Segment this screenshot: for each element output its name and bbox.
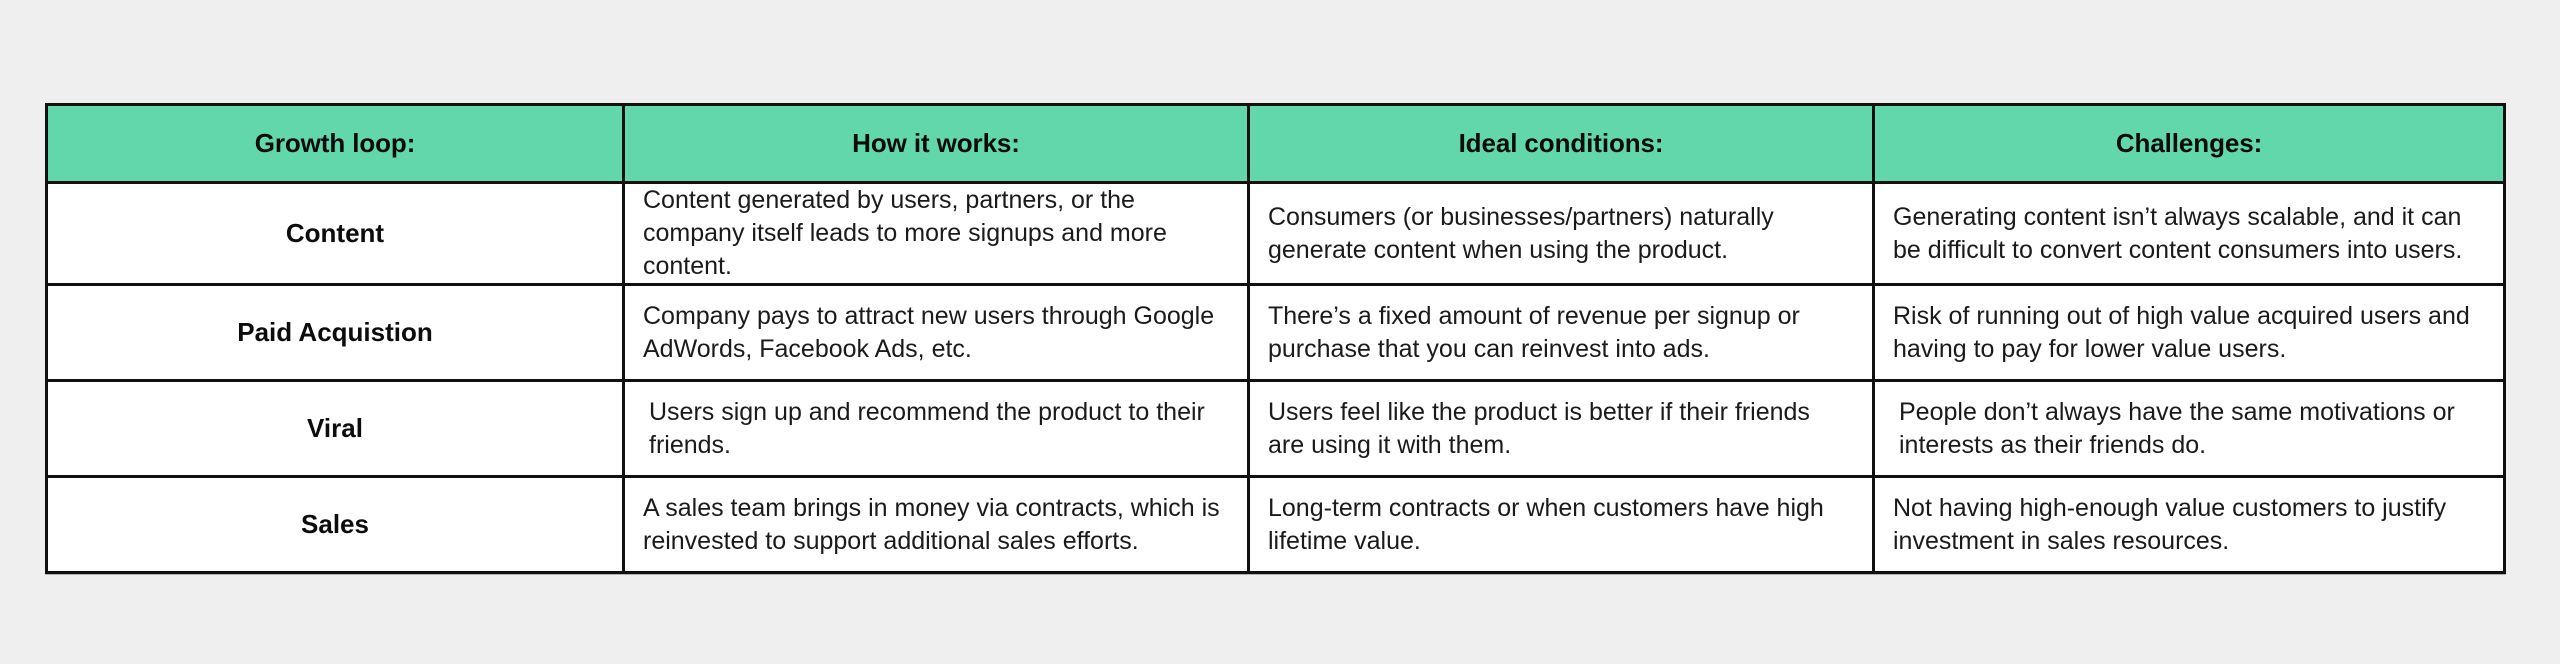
ideal-conditions-cell: There’s a fixed amount of revenue per si…: [1249, 285, 1874, 381]
how-it-works-cell: Users sign up and recommend the product …: [624, 381, 1249, 477]
table-row: Paid Acquistion Company pays to attract …: [47, 285, 2505, 381]
how-it-works-cell: Content generated by users, partners, or…: [624, 183, 1249, 285]
column-header-challenges: Challenges:: [1874, 105, 2505, 183]
row-label-cell: Content: [47, 183, 624, 285]
ideal-conditions-cell: Long-term contracts or when customers ha…: [1249, 477, 1874, 573]
table-header-row: Growth loop: How it works: Ideal conditi…: [47, 105, 2505, 183]
growth-loop-name: Paid Acquistion: [48, 317, 622, 348]
challenges-cell: Not having high-enough value customers t…: [1874, 477, 2505, 573]
row-label-cell: Viral: [47, 381, 624, 477]
growth-loops-table-container: Growth loop: How it works: Ideal conditi…: [45, 103, 2503, 574]
column-header-ideal-conditions: Ideal conditions:: [1249, 105, 1874, 183]
table-row: Sales A sales team brings in money via c…: [47, 477, 2505, 573]
column-header-how-it-works: How it works:: [624, 105, 1249, 183]
challenges-cell: People don’t always have the same motiva…: [1874, 381, 2505, 477]
challenges-cell: Generating content isn’t always scalable…: [1874, 183, 2505, 285]
table-row: Viral Users sign up and recommend the pr…: [47, 381, 2505, 477]
ideal-conditions-cell: Consumers (or businesses/partners) natur…: [1249, 183, 1874, 285]
growth-loop-name: Sales: [48, 509, 622, 540]
cell-text: Users sign up and recommend the product …: [625, 396, 1247, 462]
cell-text: Users feel like the product is better if…: [1250, 396, 1872, 462]
cell-text: Risk of running out of high value acquir…: [1875, 300, 2503, 366]
cell-text: Consumers (or businesses/partners) natur…: [1250, 201, 1872, 267]
column-header-label: Ideal conditions:: [1250, 128, 1872, 159]
cell-text: Not having high-enough value customers t…: [1875, 492, 2503, 558]
table-row: Content Content generated by users, part…: [47, 183, 2505, 285]
column-header-label: How it works:: [625, 128, 1247, 159]
how-it-works-cell: Company pays to attract new users throug…: [624, 285, 1249, 381]
growth-loops-table: Growth loop: How it works: Ideal conditi…: [45, 103, 2506, 574]
cell-text: People don’t always have the same motiva…: [1875, 396, 2503, 462]
cell-text: Company pays to attract new users throug…: [625, 300, 1247, 366]
growth-loop-name: Content: [48, 218, 622, 249]
how-it-works-cell: A sales team brings in money via contrac…: [624, 477, 1249, 573]
cell-text: Generating content isn’t always scalable…: [1875, 201, 2503, 267]
growth-loop-name: Viral: [48, 413, 622, 444]
row-label-cell: Paid Acquistion: [47, 285, 624, 381]
cell-text: Content generated by users, partners, or…: [625, 184, 1247, 283]
row-label-cell: Sales: [47, 477, 624, 573]
column-header-label: Challenges:: [1875, 128, 2503, 159]
cell-text: A sales team brings in money via contrac…: [625, 492, 1247, 558]
challenges-cell: Risk of running out of high value acquir…: [1874, 285, 2505, 381]
column-header-label: Growth loop:: [48, 128, 622, 159]
column-header-growth-loop: Growth loop:: [47, 105, 624, 183]
cell-text: There’s a fixed amount of revenue per si…: [1250, 300, 1872, 366]
ideal-conditions-cell: Users feel like the product is better if…: [1249, 381, 1874, 477]
cell-text: Long-term contracts or when customers ha…: [1250, 492, 1872, 558]
